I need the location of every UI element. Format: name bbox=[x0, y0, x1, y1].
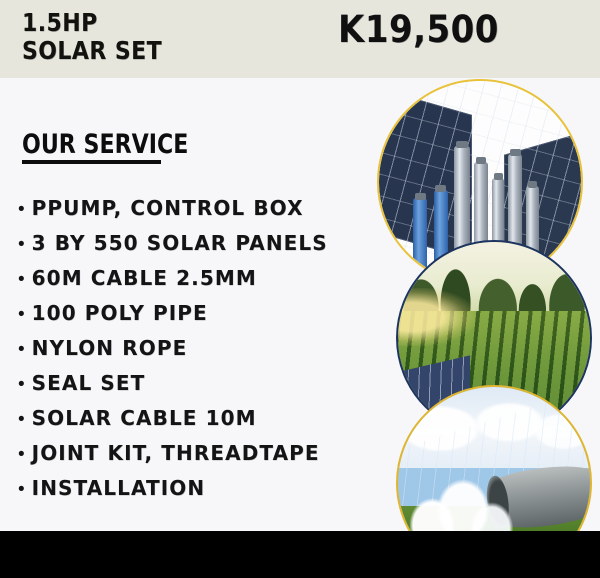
product-title-line-2: SOLAR SET bbox=[22, 37, 162, 65]
service-item-list: • PPUMP, CONTROL BOX • 3 BY 550 SOLAR PA… bbox=[18, 196, 328, 511]
list-item: • NYLON ROPE bbox=[18, 336, 328, 371]
price-label: K19,500 bbox=[338, 8, 499, 51]
solar-set-flyer: 1.5HP SOLAR SET K19,500 bbox=[0, 0, 600, 578]
service-heading-block: OUR SERVICE bbox=[22, 131, 225, 164]
product-title: 1.5HP SOLAR SET bbox=[22, 9, 181, 65]
list-item: • 3 BY 550 SOLAR PANELS bbox=[18, 231, 328, 266]
list-item-label: JOINT KIT, THREADTAPE bbox=[32, 441, 320, 465]
bullet-icon: • bbox=[18, 480, 25, 499]
list-item-label: 100 POLY PIPE bbox=[32, 301, 208, 325]
list-item: • PPUMP, CONTROL BOX bbox=[18, 196, 328, 231]
service-heading: OUR SERVICE bbox=[22, 131, 188, 158]
bullet-icon: • bbox=[18, 340, 25, 359]
footer-band bbox=[0, 531, 600, 578]
list-item-label: SEAL SET bbox=[32, 371, 146, 395]
list-item: • SEAL SET bbox=[18, 371, 328, 406]
product-title-line-1: 1.5HP bbox=[22, 9, 162, 37]
bullet-icon: • bbox=[18, 410, 25, 429]
bullet-icon: • bbox=[18, 270, 25, 289]
list-item-label: INSTALLATION bbox=[32, 476, 206, 500]
bullet-icon: • bbox=[18, 305, 25, 324]
service-heading-underline bbox=[22, 160, 161, 164]
list-item: • SOLAR CABLE 10M bbox=[18, 406, 328, 441]
list-item: • INSTALLATION bbox=[18, 476, 328, 511]
list-item-label: PPUMP, CONTROL BOX bbox=[32, 196, 304, 220]
list-item: • 60M CABLE 2.5MM bbox=[18, 266, 328, 301]
list-item-label: SOLAR CABLE 10M bbox=[32, 406, 257, 430]
list-item: • 100 POLY PIPE bbox=[18, 301, 328, 336]
list-item: • JOINT KIT, THREADTAPE bbox=[18, 441, 328, 476]
bullet-icon: • bbox=[18, 235, 25, 254]
sun-glow bbox=[398, 288, 475, 346]
list-item-label: 3 BY 550 SOLAR PANELS bbox=[32, 231, 328, 255]
bullet-icon: • bbox=[18, 200, 25, 219]
list-item-label: 60M CABLE 2.5MM bbox=[32, 266, 257, 290]
list-item-label: NYLON ROPE bbox=[32, 336, 188, 360]
bullet-icon: • bbox=[18, 445, 25, 464]
bullet-icon: • bbox=[18, 375, 25, 394]
